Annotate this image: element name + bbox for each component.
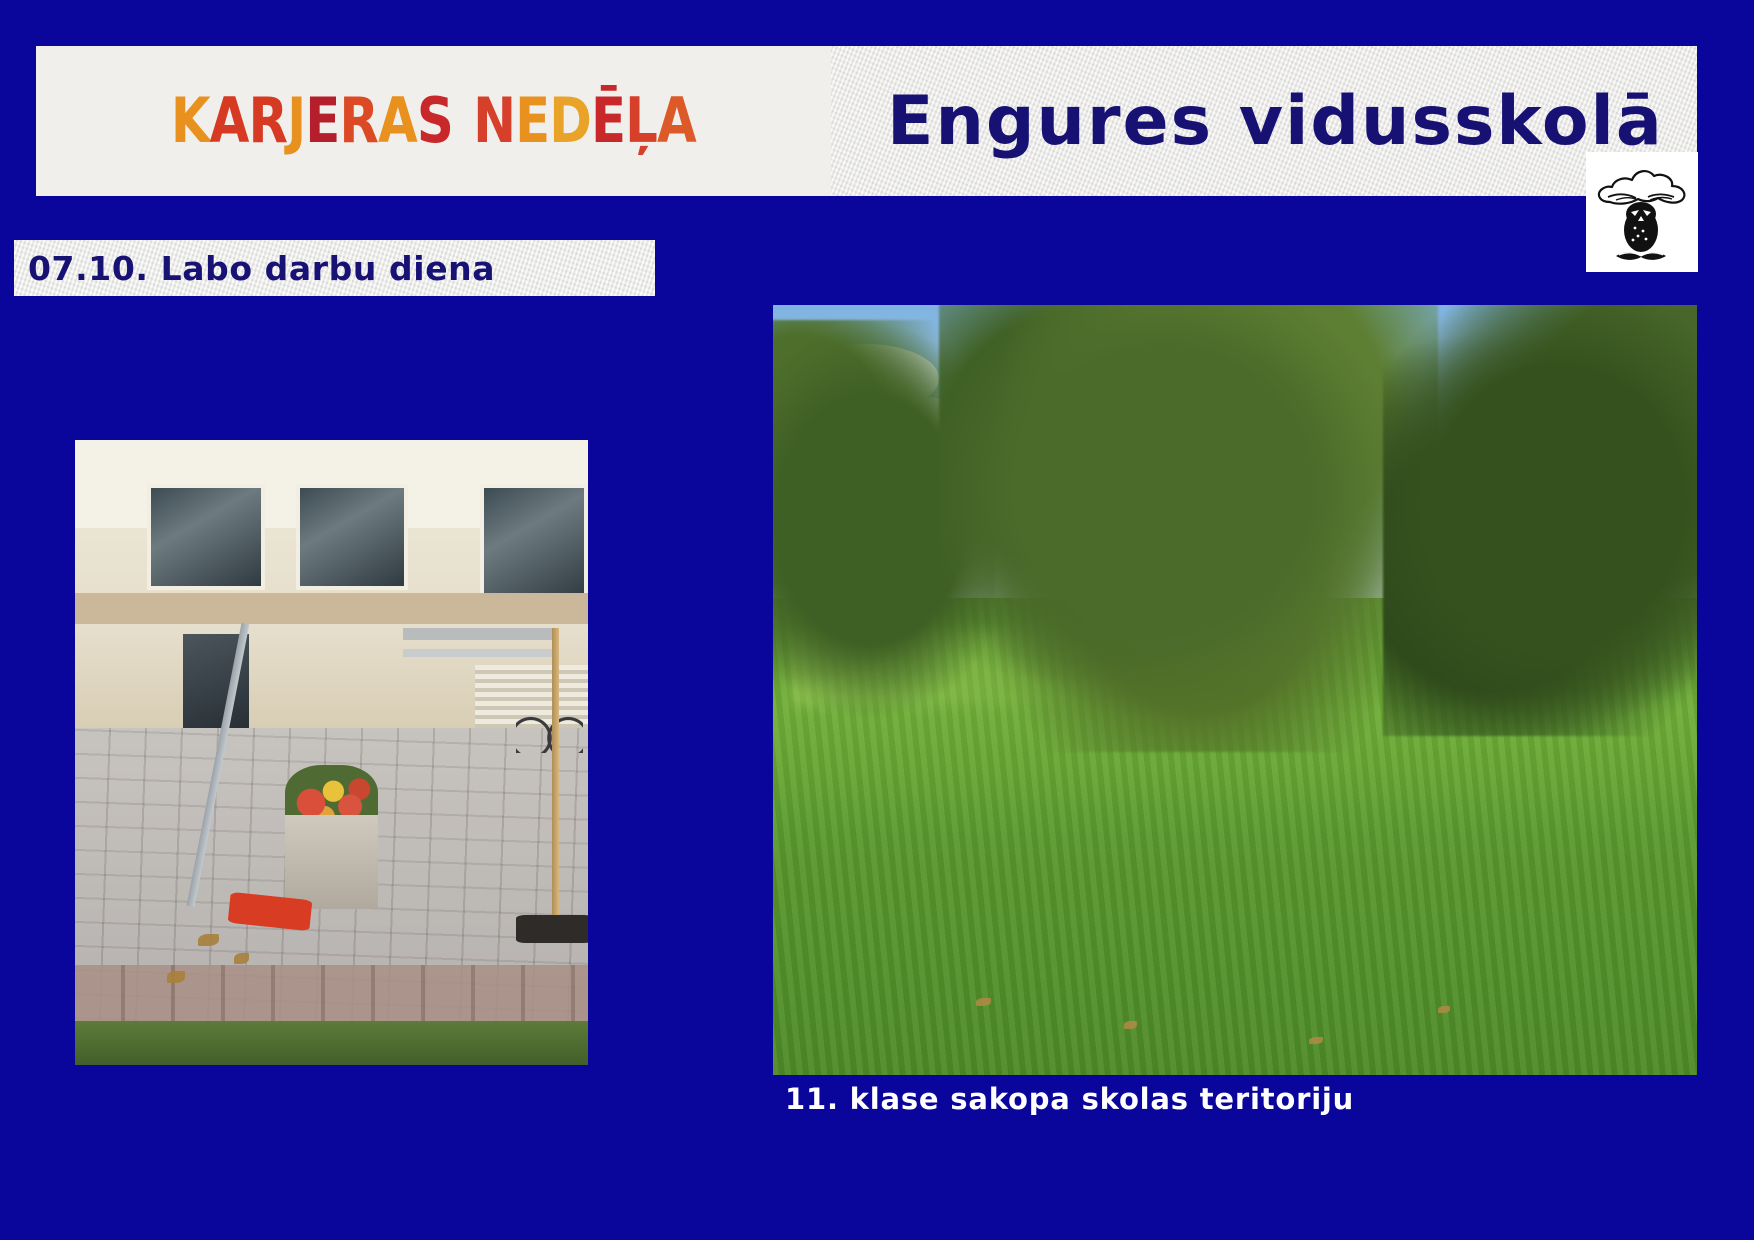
logo-letter: J [287,90,305,152]
fallen-leaf [198,934,219,947]
subtitle-text: 07.10. Labo darbu diena [28,249,495,288]
broom-head-dark [516,915,588,943]
logo-letter: E [305,90,339,152]
photo-caption: 11. klase sakopa skolas teritoriju [785,1082,1354,1116]
subtitle-banner: 07.10. Labo darbu diena [14,240,655,296]
tree-center [939,305,1438,752]
logo-letter: A [210,90,249,152]
photo-class-group-on-lawn [773,305,1697,1075]
window [296,484,409,590]
grass-strip [75,1021,588,1065]
fallen-leaf [167,971,185,982]
logo-wordmark: KARJERASNEDĒĻA [171,90,696,152]
school-owl-emblem [1586,152,1698,272]
bicycle [516,703,583,753]
logo-letter: Ē [591,90,625,152]
logo-letter: A [378,90,417,152]
brick-paving-row [75,965,588,1028]
logo-letter: E [515,90,549,152]
logo-letter: A [657,90,696,152]
tree-right [1383,305,1697,736]
window [480,484,588,603]
logo-letter: R [340,90,379,152]
logo-letter: Ļ [625,90,657,152]
handrail [403,628,557,641]
fallen-leaf [234,953,249,964]
photo-two-students-sweeping [75,440,588,1065]
logo-letter: R [249,90,288,152]
owl-icon [1586,152,1698,272]
building-trim-band [75,593,588,624]
handrail [403,649,557,657]
page-title: Engures vidusskolā [887,82,1664,161]
logo-letter: K [171,90,210,152]
fallen-leaf [1124,1021,1137,1029]
header-band: KARJERASNEDĒĻA Engures vidusskolā [36,46,1697,196]
broom-handle [552,628,559,922]
window [147,484,265,590]
logo-letter: N [473,90,515,152]
header-title-area: Engures vidusskolā [831,46,1697,196]
logo-letter: D [550,90,592,152]
logo-letter: S [417,90,453,152]
planter-box [285,815,377,909]
karjeras-nedela-logo: KARJERASNEDĒĻA [36,46,831,196]
